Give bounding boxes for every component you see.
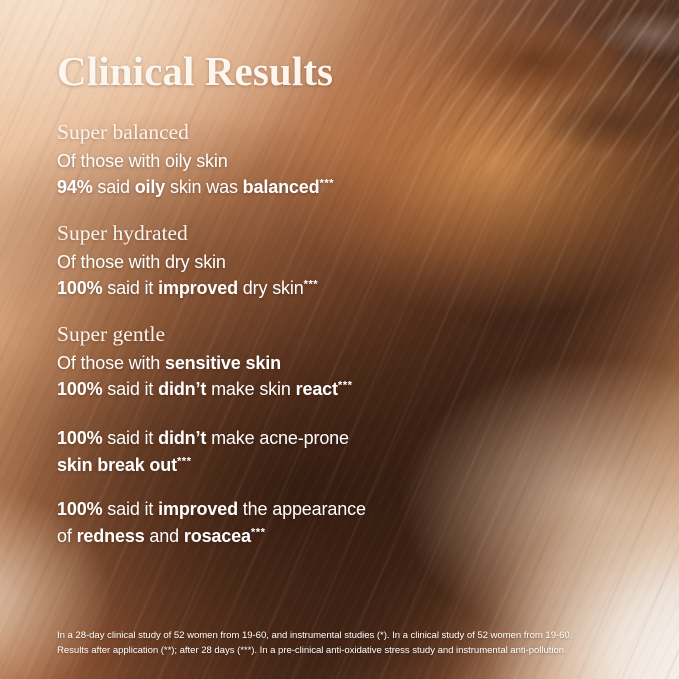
result-heading: Super gentle: [57, 320, 352, 349]
footnote-line-1: In a 28-day clinical study of 52 women f…: [57, 629, 637, 644]
result-line: skin break out***: [57, 452, 349, 479]
result-heading: Super balanced: [57, 118, 334, 147]
result-line: Of those with sensitive skin: [57, 350, 352, 377]
footnote-line-2: Results after application (**); after 28…: [57, 644, 637, 659]
result-line: 100% said it didn’t make acne-prone: [57, 425, 349, 452]
clinical-results-panel: Clinical Results Super balanced Of those…: [0, 0, 679, 679]
result-line: 100% said it didn’t make skin react***: [57, 376, 352, 403]
result-block-redness: 100% said it improved the appearance of …: [57, 496, 366, 549]
result-block-gentle: Super gentle Of those with sensitive ski…: [57, 320, 352, 403]
footnote-marker: ***: [251, 526, 266, 538]
result-heading: Super hydrated: [57, 219, 318, 248]
result-line: Of those with dry skin: [57, 249, 318, 276]
result-block-balanced: Super balanced Of those with oily skin 9…: [57, 118, 334, 201]
footnote-marker: ***: [177, 455, 192, 467]
footnote: In a 28-day clinical study of 52 women f…: [57, 629, 637, 658]
result-line: 100% said it improved the appearance: [57, 496, 366, 523]
result-line: 94% said oily skin was balanced***: [57, 174, 334, 201]
footnote-marker: ***: [338, 380, 353, 392]
footnote-marker: ***: [304, 279, 319, 291]
result-line: Of those with oily skin: [57, 148, 334, 175]
result-block-acne: 100% said it didn’t make acne-prone skin…: [57, 425, 349, 478]
page-title: Clinical Results: [57, 51, 333, 92]
content-layer: Clinical Results Super balanced Of those…: [0, 0, 679, 679]
footnote-marker: ***: [320, 178, 335, 190]
result-block-hydrated: Super hydrated Of those with dry skin 10…: [57, 219, 318, 302]
result-line: 100% said it improved dry skin***: [57, 275, 318, 302]
result-line: of redness and rosacea***: [57, 523, 366, 550]
